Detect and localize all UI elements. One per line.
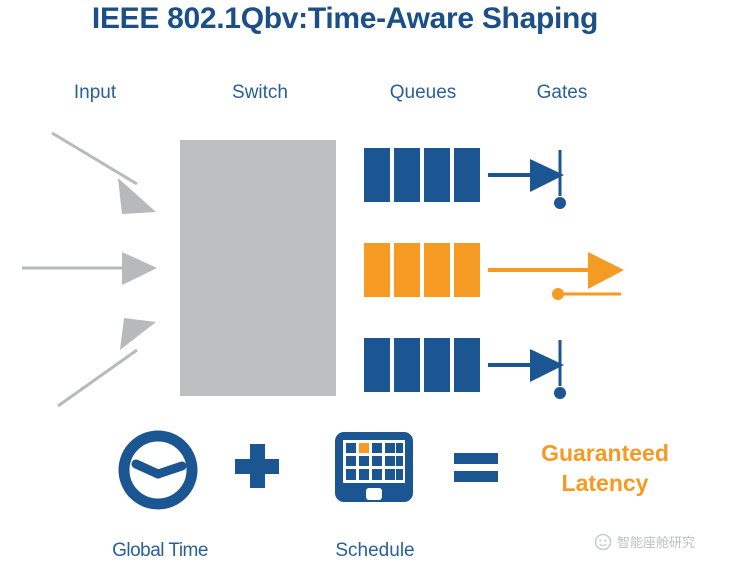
clock-icon-wrapper	[112, 424, 204, 521]
result-line-2: Latency	[505, 468, 705, 498]
gate-open-middle	[552, 288, 621, 300]
result-text: Guaranteed Latency	[505, 438, 705, 498]
watermark-text: 智能座舱研究	[617, 532, 695, 551]
logo-icon	[594, 533, 612, 551]
plus-icon	[232, 441, 282, 491]
queue-arrow-middle	[488, 252, 624, 289]
queue-arrow-top	[488, 159, 564, 192]
queue-arrow-bottom	[488, 349, 564, 382]
result-line-1: Guaranteed	[505, 438, 705, 468]
label-schedule: Schedule	[300, 540, 450, 562]
clock-icon	[112, 424, 204, 516]
calendar-icon-wrapper	[333, 430, 415, 511]
watermark: 智能座舱研究	[594, 532, 695, 551]
plus-icon-wrapper	[232, 441, 282, 496]
diagram-canvas: IEEE 802.1Qbv:Time-Aware Shaping Input S…	[0, 0, 750, 572]
calendar-icon	[333, 430, 415, 506]
gate-closed-top	[554, 150, 566, 209]
equals-icon	[452, 450, 500, 486]
label-global-time: Global Time	[85, 540, 235, 562]
gate-closed-bottom	[554, 340, 566, 399]
equals-icon-wrapper	[452, 450, 500, 491]
